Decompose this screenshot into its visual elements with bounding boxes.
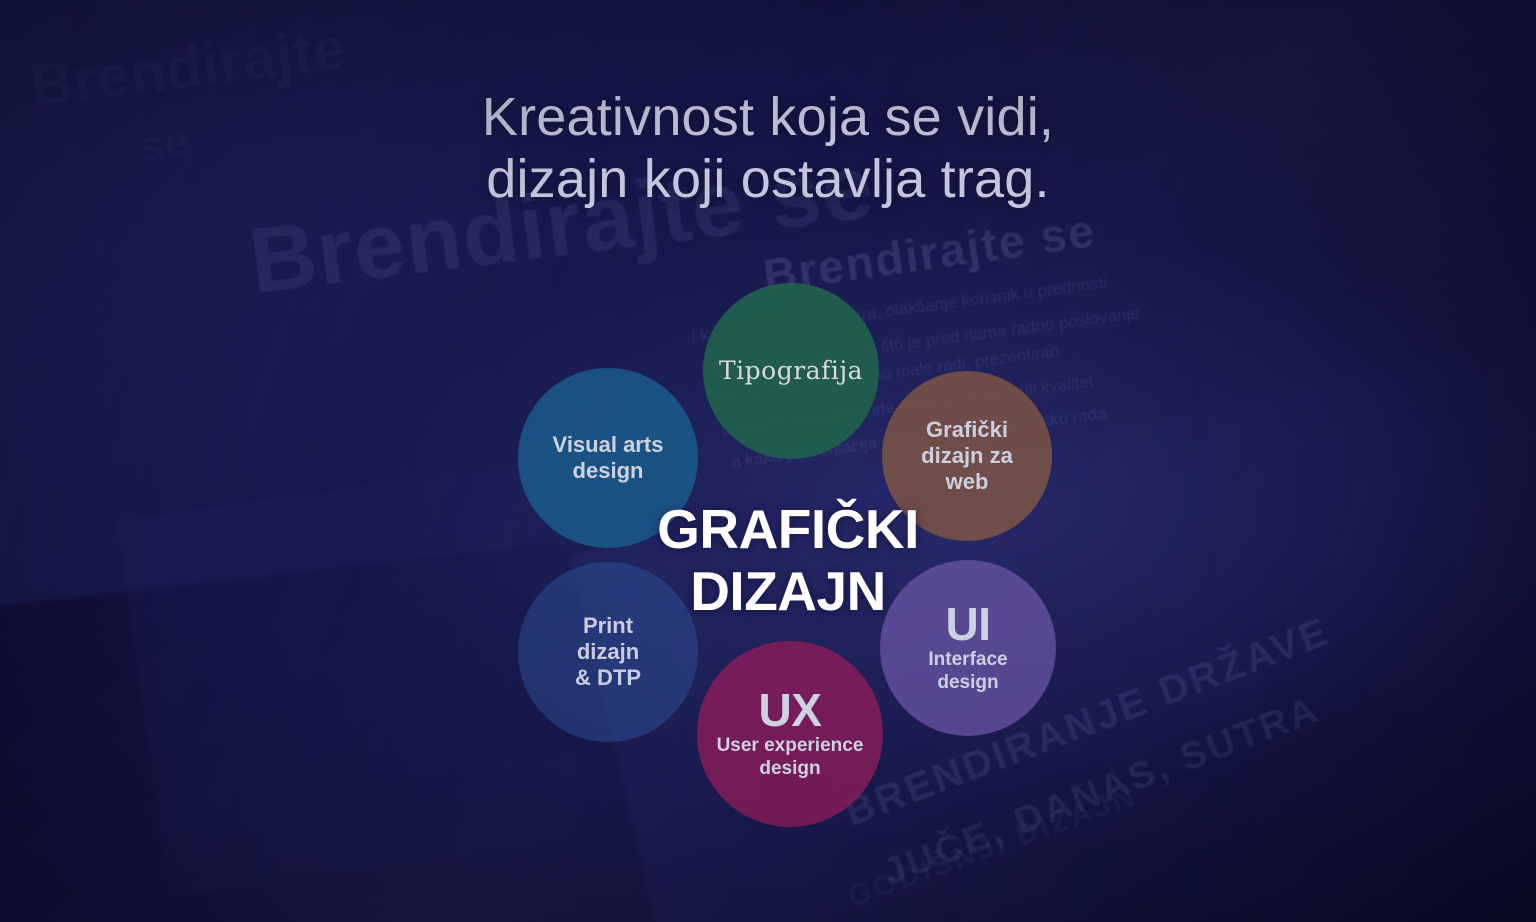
circle-ux-sub-line-2: design <box>759 758 820 780</box>
circle-web-label-line-2: dizajn za <box>915 443 1019 469</box>
circle-visual-label-line-2: design <box>567 458 650 484</box>
circle-ux-abbreviation: UX <box>759 688 822 733</box>
circle-ux-sub-line-1: User experience <box>717 735 864 757</box>
diagram-center-label: GRAFIČKI DIZAJN <box>598 498 978 622</box>
circle-ui-sub-line-1: Interface <box>928 649 1007 671</box>
circle-print-label-line-2: dizajn <box>571 639 645 665</box>
circle-tipografija[interactable]: Tipografija <box>703 283 879 459</box>
center-label-line-2: DIZAJN <box>598 560 978 622</box>
circle-web-label-line-1: Grafički <box>920 417 1014 443</box>
circle-print-label-line-3: & DTP <box>569 665 647 691</box>
circle-tipografija-label: Tipografija <box>713 356 869 386</box>
center-label-line-1: GRAFIČKI <box>598 498 978 560</box>
circle-visual-label-line-1: Visual arts <box>547 432 670 458</box>
circle-ux-user-experience-design[interactable]: UX User experience design <box>697 641 883 827</box>
graphic-design-venn-diagram: Tipografija Grafički dizajn za web UI In… <box>0 0 1536 922</box>
circle-web-label-line-3: web <box>940 469 995 495</box>
circle-ui-sub-line-2: design <box>937 672 998 694</box>
